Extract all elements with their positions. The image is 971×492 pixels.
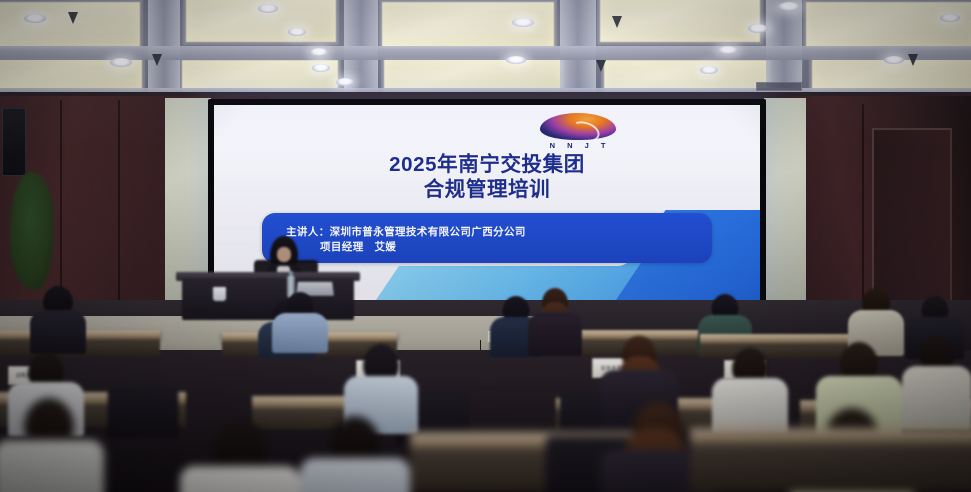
ceiling-downlight [506,56,526,64]
audience-member [300,416,410,492]
torso [30,310,86,354]
slide-title-line-2: 合规管理培训 [214,177,760,202]
ceiling-downlight [884,56,904,64]
torso [180,466,300,492]
ceiling-speaker-cone [612,16,622,28]
audience-member [0,398,104,492]
slide-subtitle-pill: 主讲人：深圳市普永管理技术有限公司广西分公司 项目经理 艾媛 [262,213,712,263]
ceiling-downlight [336,78,354,86]
ceiling-downlight [258,4,278,13]
ceiling-speaker-cone [68,12,78,24]
ceiling-downlight [24,14,46,23]
cup [213,287,226,301]
ceiling-speaker-cone [152,54,162,66]
ceiling-downlight [288,28,306,36]
potted-plant [10,172,54,290]
ceiling-vent [756,82,802,91]
wall-speaker [2,108,26,176]
ceiling [0,0,971,96]
torso [0,440,104,492]
slide-subtitle-line-1: 主讲人：深圳市普永管理技术有限公司广西分公司 [286,225,526,240]
audience-member [528,288,582,356]
ceiling-downlight [700,66,718,74]
ceiling-downlight [940,14,960,22]
desk-front [690,446,971,492]
audience-member [272,292,328,352]
ceiling-downlight [110,58,132,67]
ceiling-downlight [748,24,768,33]
audience-member [180,420,300,492]
ceiling-downlight [778,2,800,11]
torso [528,312,582,356]
slide-logo: N N J T [532,113,624,150]
torso [300,458,410,492]
slide-title: 2025年南宁交投集团 合规管理培训 [214,152,760,202]
audience-member [30,286,86,352]
desk [690,428,971,446]
nnjt-logo-icon [540,113,616,140]
ceiling-speaker-cone [908,54,918,66]
ceiling-downlight [312,64,330,72]
audience-member [712,348,788,432]
chair [108,388,178,436]
right-light-wall-strip [764,98,806,320]
conference-room-photo: N N J T 2025年南宁交投集团 合规管理培训 主讲人：深圳市普永管理技术… [0,0,971,492]
torso [712,378,788,434]
ceiling-downlight [718,46,738,54]
torso [272,313,328,353]
ceiling-speaker-cone [596,60,606,72]
presenter-face [277,247,291,262]
nnjt-wordmark: N N J T [532,141,624,150]
slide-subtitle-line-2: 项目经理 艾媛 [320,240,396,255]
slide-title-line-1: 2025年南宁交投集团 [214,152,760,177]
ceiling-downlight [310,48,328,56]
ceiling-downlight [512,18,534,27]
